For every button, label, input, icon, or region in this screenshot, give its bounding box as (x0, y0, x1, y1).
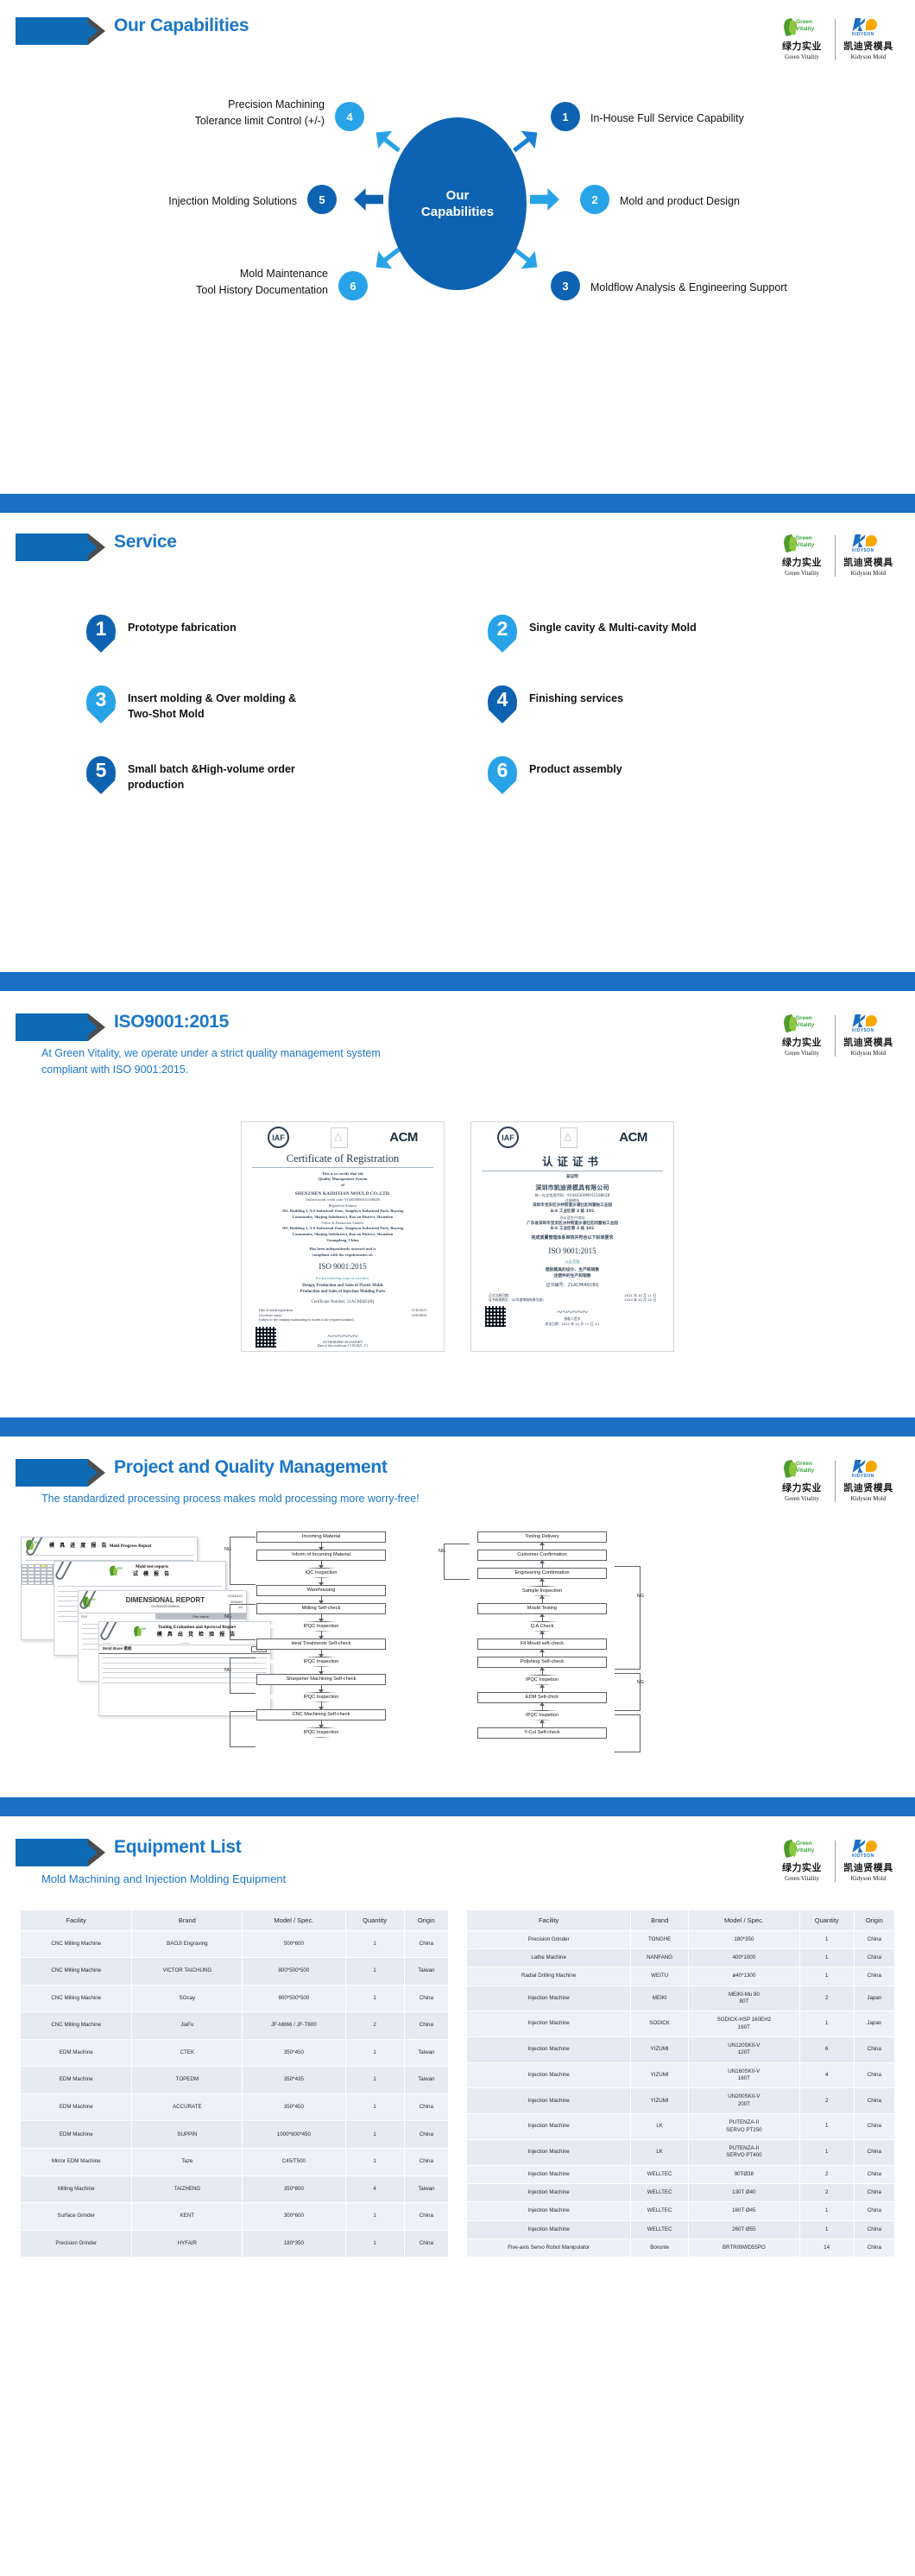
table-cell: EDM Machine (21, 2067, 132, 2094)
flow-connector (456, 1650, 628, 1657)
certificate-chinese[interactable]: IAF ACM 认证证书 兹证明 深圳市凯迪贤模具有限公司 统一社会信用代码：9… (470, 1121, 674, 1352)
badge-num-4: 4 (346, 110, 352, 123)
logo-divider (835, 19, 836, 60)
table-row: Five-axis Servo Robot ManipulatorBorunte… (467, 2239, 894, 2257)
table-cell: 1 (345, 2121, 404, 2149)
table-cell: 350*450 (243, 2039, 345, 2067)
company-logo: GreenVitality 绿力实业 Green Vitality KIDYSO… (774, 534, 896, 577)
capability-label-4: Precision Machining Tolerance limit Cont… (86, 97, 325, 130)
capability-label-6-line2: Tool History Documentation (60, 282, 328, 299)
flow-node: Inform of Incoming Material (256, 1550, 386, 1561)
flow-decision-label: IPQC Inspetion (526, 1677, 558, 1683)
table-cell: Mirror EDM Machine (21, 2149, 132, 2176)
kidyson-k-icon: KIDYSON (841, 1013, 896, 1032)
logo-green-en: Green Vitality (774, 1875, 830, 1882)
flow-decision-label: IPQC Inspection (304, 1730, 339, 1735)
column-header: Facility (467, 1910, 631, 1931)
table-cell: 260T Ø55 (688, 2220, 799, 2238)
table-cell: EDM Machine (21, 2093, 132, 2121)
table-cell: Five-axis Servo Robot Manipulator (467, 2239, 631, 2257)
logo-green-cn: 绿力实业 (774, 1481, 830, 1494)
logo-divider (835, 1015, 836, 1057)
table-cell: 350*450 (243, 2093, 345, 2121)
certificate-english[interactable]: IAF ACM Certificate of Registration This… (241, 1121, 445, 1352)
section-arrow-tab (16, 534, 88, 561)
logo-mark-line2: Vitality (796, 1022, 814, 1028)
logo-mark-line1: Green (796, 535, 812, 541)
capability-label-5: Injection Molding Solutions (52, 193, 297, 210)
green-leaf-icon: GreenVitality (774, 1459, 830, 1478)
table-cell: Radial Drilling Machine (467, 1967, 631, 1986)
cert-cn-off2: A-6 工业区第 3 栋 101 (476, 1227, 668, 1233)
table-cell: KENT (132, 2203, 243, 2231)
table-row: Injection MachineLKPUTENZA-IISERVO PT250… (467, 2114, 894, 2140)
acm-logo: ACM (619, 1130, 647, 1145)
service-num-1: 1 (86, 615, 116, 653)
service-item-6[interactable]: 6 Product assembly (488, 756, 863, 794)
green-leaf-icon: GreenVitality (774, 1839, 830, 1858)
cert-rule (252, 1167, 433, 1168)
ukas-icon (560, 1127, 577, 1148)
table-cell: 180*350 (243, 2230, 345, 2257)
flow-decision: IPQC Inspection (243, 1692, 399, 1702)
capability-label-6: Mold Maintenance Tool History Documentat… (60, 266, 328, 300)
table-cell: CNC Milling Machine (21, 1930, 132, 1958)
flow-connector (235, 1650, 407, 1657)
table-row: Precision GrinderTONGHE180*3501China (467, 1930, 894, 1948)
table-cell: LK (631, 2139, 689, 2165)
table-row: Injection MachineWELLTEC130T Ø402China (467, 2183, 894, 2201)
table-cell: 4 (799, 2062, 854, 2088)
kidyson-k-icon: KIDYSON (841, 1459, 896, 1478)
service-label-3: Insert molding & Over molding & Two-Shot… (128, 685, 313, 722)
badge-num-1: 1 (562, 110, 568, 123)
table-cell: UN160SKII-V160T (688, 2062, 799, 2088)
column-header: Model / Spec. (243, 1910, 345, 1931)
table-cell: 1 (799, 1967, 854, 1986)
table-cell: China (854, 2183, 894, 2201)
table-cell: 2 (345, 2012, 404, 2040)
service-label-6: Product assembly (529, 756, 622, 777)
cert-en-off1: 101, Building 3, A-6 Industrial Zone, To… (247, 1226, 439, 1232)
logo-kid-cn: 凯迪贤模具 (841, 1035, 896, 1049)
column-header: Model / Spec. (688, 1910, 799, 1931)
flow-node: Milliing Self-check (256, 1603, 386, 1614)
flow-decision-label: IQC Inspection (306, 1570, 338, 1575)
arrow-to-2 (530, 188, 559, 211)
table-cell: 1 (799, 2202, 854, 2220)
service-item-3[interactable]: 3 Insert molding & Over molding & Two-Sh… (86, 685, 462, 723)
cert-cn-standard: ISO 9001:2015 (476, 1246, 668, 1258)
table-cell: China (404, 2093, 448, 2121)
table-cell: UN120SKII-V120T (688, 2037, 799, 2063)
table-cell: 350*800 (243, 2175, 345, 2203)
table-cell: China (854, 2114, 894, 2140)
service-num-4: 4 (488, 685, 517, 723)
table-cell: Precision Grinder (467, 1930, 631, 1948)
table-cell: Taiwan (404, 2039, 448, 2067)
logo-kid-cn: 凯迪贤模具 (841, 555, 896, 569)
table-cell: CNC Milling Machine (21, 1985, 132, 2012)
cert-en-sig-label: AUTHORISED SIGNATORY (318, 1341, 368, 1344)
table-cell: Injection Machine (467, 2062, 631, 2088)
flow-connector (456, 1614, 628, 1621)
section-capabilities: Our Capabilities GreenVitality 绿力实业 Gree… (0, 0, 915, 535)
logo-kidyson-mark: KIDYSON (852, 1474, 874, 1479)
table-row: Injection MachineLKPUTENZA-IISERVO PT400… (467, 2139, 894, 2165)
center-line-2: Capabilities (421, 205, 494, 219)
table-row: EDM MachineSUPPIN1000*600*4501China (21, 2121, 448, 2149)
company-logo: GreenVitality 绿力实业 Green Vitality KIDYSO… (774, 1839, 896, 1882)
table-cell: 1 (799, 2139, 854, 2165)
column-header: Brand (132, 1910, 243, 1931)
cert-cn-scope2: 注塑件的生产和销售 (476, 1273, 668, 1279)
accreditation-marks: IAF ACM (476, 1127, 668, 1149)
flow-node: Warehousing (256, 1585, 386, 1596)
table-cell: LK (631, 2114, 689, 2140)
flow-node: CNC Machining Self-check (256, 1709, 386, 1720)
service-item-5[interactable]: 5 Small batch &High-volume order product… (86, 756, 462, 794)
table-row: EDM MachineCTEK350*4501Taiwan (21, 2039, 448, 2067)
certificates-row: IAF ACM Certificate of Registration This… (0, 1108, 915, 1352)
service-label-1: Prototype fabrication (128, 615, 237, 635)
cert-cn-signature: ~~~~~~ 授权人签字 发证日期：2021 年 10 月 11 日, V1 (545, 1309, 599, 1327)
table-cell: SUPPIN (132, 2121, 243, 2149)
service-label-4: Finishing services (529, 685, 623, 706)
section-arrow-tab (16, 1839, 88, 1866)
flow-connector (235, 1614, 407, 1621)
table-cell: Precision Grinder (21, 2230, 132, 2257)
doc-supplier-3: GVI (79, 1613, 155, 1619)
table-header-row: FacilityBrandModel / Spec.QuantityOrigin (21, 1910, 448, 1931)
capability-label-6-line1: Mold Maintenance (60, 266, 328, 282)
flow-decision-label: Sample Inspeciton (522, 1588, 562, 1594)
capabilities-center-node: Our Capabilities (388, 117, 527, 290)
logo-mark-line2: Vitality (796, 1468, 814, 1474)
iso-title: ISO9001:2015 (114, 1012, 229, 1032)
table-cell: NANFANG (631, 1948, 689, 1967)
table-cell: Injection Machine (467, 2114, 631, 2140)
table-row: Injection MachineMEIKIMEIKI-Mu 8080T2Jap… (467, 1986, 894, 2011)
table-cell: Taiwan (404, 1958, 448, 1986)
cert-en-signature: ~~~~~~ AUTHORISED SIGNATORY Date of this… (318, 1333, 368, 1348)
logo-mark-line1: Green (796, 1840, 812, 1847)
table-cell: Injection Machine (467, 2183, 631, 2201)
table-cell: 1 (799, 1930, 854, 1948)
flowchart-right: NG NG NG Tooling Delivery Customer Confi… (456, 1531, 628, 1739)
table-cell: MEIKI-Mu 8080T (688, 1986, 799, 2011)
logo-kidyson-mark: KIDYSON (852, 1028, 874, 1033)
table-cell: 2 (799, 1986, 854, 2011)
table-cell: 2 (799, 2165, 854, 2183)
flowchart-left: NG NG NG Incoming Material Inform of Inc… (235, 1531, 407, 1739)
table-cell: YIZUMI (631, 2088, 689, 2114)
table-cell: China (404, 2230, 448, 2257)
table-cell: Injection Machine (467, 2220, 631, 2238)
table-cell: China (854, 2088, 894, 2114)
table-cell: HYFAIR (132, 2230, 243, 2257)
service-item-2[interactable]: 2 Single cavity & Multi-cavity Mold (488, 615, 863, 653)
logo-green-en: Green Vitality (774, 1495, 830, 1502)
flow-decision-label: IPQC Inspetion (526, 1713, 558, 1718)
logo-kid-cn: 凯迪贤模具 (841, 1860, 896, 1874)
flow-connector (235, 1667, 407, 1674)
table-cell: CTEK (132, 2039, 243, 2067)
column-header: Origin (854, 1910, 894, 1931)
table-cell: 800*500*500 (243, 1985, 345, 2012)
table-cell: 1000*600*450 (243, 2121, 345, 2149)
table-cell: Taiwan (404, 2067, 448, 2094)
logo-mark-line1: Green (796, 19, 812, 25)
table-cell: 180*350 (688, 1930, 799, 1948)
logo-kidyson-mark: KIDYSON (852, 32, 874, 37)
flow-node: Y-Cut Self-check (477, 1727, 607, 1739)
table-cell: Lathe Machine (467, 1948, 631, 1967)
capability-badge-5[interactable]: 5 (307, 185, 337, 214)
table-cell: 800*500*500 (243, 1958, 345, 1986)
table-cell: TONGHE (631, 1930, 689, 1948)
flow-decision: IQC Inspection (243, 1568, 399, 1578)
section-arrow-tab (16, 1459, 88, 1487)
flow-loop-ng (615, 1566, 640, 1670)
service-items-grid: 1 Prototype fabrication 2 Single cavity … (0, 561, 915, 794)
logo-green-en: Green Vitality (774, 1050, 830, 1057)
flow-connector (235, 1543, 407, 1550)
equipment-table-left: FacilityBrandModel / Spec.QuantityOrigin… (21, 1910, 448, 2258)
logo-mark-line2: Vitality (796, 26, 814, 32)
table-cell: JiaFu (132, 2012, 243, 2040)
table-cell: 1 (799, 2220, 854, 2238)
signature-scribble-icon: ~~~~~~ (545, 1309, 599, 1316)
table-row: Mirror EDM MachineTazeC45/T5001China (21, 2149, 448, 2176)
table-cell: 1 (799, 1948, 854, 1967)
green-leaf-icon: GreenVitality (774, 17, 830, 36)
capabilities-diagram: Our Capabilities 1 2 3 4 5 (0, 83, 915, 342)
flow-loop-ng (615, 1714, 640, 1752)
flow-loop-ng (615, 1673, 640, 1711)
flow-connector (235, 1632, 407, 1638)
iso-subtitle-line2: compliant with ISO 9001:2015. (41, 1062, 915, 1078)
table-cell: 1 (345, 1930, 404, 1958)
table-row: CNC Milling MachineVICTOR TAICHUNG800*50… (21, 1958, 448, 1986)
cert-cn-scope1: 塑胶模具的设计、生产和销售 (476, 1267, 668, 1273)
flow-loop-ng (444, 1544, 470, 1580)
doc-title-cn-4: 模 具 出 货 检 验 报 告 (157, 1630, 237, 1638)
table-cell: China (404, 2121, 448, 2149)
flow-connector (456, 1703, 628, 1710)
badge-num-3: 3 (562, 280, 568, 293)
cert-en-scope2: Production and Sales of Injection Moldin… (247, 1289, 439, 1295)
table-cell: 1 (345, 1985, 404, 2012)
flow-decision-label: IPQC Inspection (304, 1659, 339, 1664)
logo-kidyson-mark: KIDYSON (852, 1853, 874, 1859)
table-cell: TOPEDM (132, 2067, 243, 2094)
table-cell: 4 (345, 2175, 404, 2203)
logo-kid-en: Kidyson Mold (841, 1875, 896, 1882)
section-arrow-tab (16, 17, 88, 45)
table-cell: 400*1000 (688, 1948, 799, 1967)
table-cell: 2 (799, 2183, 854, 2201)
table-cell: 500*600 (243, 1930, 345, 1958)
service-num-3: 3 (86, 685, 116, 723)
table-cell: WELLTEC (631, 2165, 689, 2183)
logo-green-vitality: GreenVitality 绿力实业 Green Vitality (774, 1013, 830, 1057)
table-cell: 1 (345, 2230, 404, 2257)
logo-kid-en: Kidyson Mold (841, 1495, 896, 1502)
table-cell: ø40*1300 (688, 1967, 799, 1986)
cert-en-reg2: Community, Shajing Subdistrict, Bao'an D… (247, 1215, 439, 1221)
pqm-title: Project and Quality Management (114, 1457, 388, 1478)
table-cell: China (854, 2202, 894, 2220)
capability-label-4-line1: Precision Machining (86, 97, 325, 113)
logo-green-en: Green Vitality (774, 570, 830, 577)
flow-decision-label: IPQC Inspection (304, 1624, 339, 1629)
table-cell: 90TØ38 (688, 2165, 799, 2183)
capability-badge-6[interactable]: 6 (338, 271, 368, 300)
table-cell: Injection Machine (467, 2037, 631, 2063)
logo-green-vitality: GreenVitality 绿力实业 Green Vitality (774, 1839, 830, 1882)
flow-connector (456, 1668, 628, 1675)
table-cell: VICTOR TAICHUNG (132, 1958, 243, 1986)
capability-badge-4[interactable]: 4 (335, 102, 364, 131)
table-cell: 1 (345, 1958, 404, 1986)
cert-cn-title: 认证证书 (476, 1152, 668, 1169)
logo-mark-line2: Vitality (796, 542, 814, 548)
table-cell: China (404, 2149, 448, 2176)
table-cell: MEIKI (631, 1986, 689, 2011)
cert-en-footer: ~~~~~~ AUTHORISED SIGNATORY Date of this… (247, 1323, 439, 1348)
qr-code-icon (485, 1306, 506, 1327)
table-cell: Injection Machine (467, 1986, 631, 2011)
flow-connector (456, 1579, 628, 1586)
table-cell: China (404, 1930, 448, 1958)
flow-loop-ng (230, 1604, 256, 1640)
equipment-title: Equipment List (114, 1837, 241, 1858)
iaf-icon: IAF (268, 1127, 289, 1148)
table-row: CNC Milling MachineBAOJI Engraving500*60… (21, 1930, 448, 1958)
flow-connector (235, 1561, 407, 1568)
table-cell: SODICK-HSP 160EH2160T (688, 2011, 799, 2037)
flow-connector (235, 1578, 407, 1585)
table-row: Injection MachineYIZUMIUN200SKII-V200T2C… (467, 2088, 894, 2114)
cert-en-intro3: of (247, 1183, 439, 1189)
capability-label-3: Moldflow Analysis & Engineering Support (590, 280, 787, 296)
cert-en-body: This is to certify that the Quality Mana… (247, 1171, 439, 1306)
flow-decision: IPQC Inspection (243, 1727, 399, 1738)
table-cell: China (854, 2220, 894, 2238)
cert-cn-dates: 正式注册日期： 证书有效期至：(以年度审核结果为准) 2021 年 10 月 1… (476, 1290, 668, 1303)
logo-mark-line1: Green (796, 1015, 812, 1021)
green-leaf-icon: GV (133, 1626, 154, 1636)
service-item-4[interactable]: 4 Finishing services (488, 685, 863, 723)
logo-green-vitality: GreenVitality 绿力实业 Green Vitality (774, 17, 830, 60)
table-cell: Milling Machine (21, 2175, 132, 2203)
table-cell: 1 (345, 2093, 404, 2121)
section-service: Service GreenVitality 绿力实业 Green Vitalit… (0, 513, 915, 996)
page-title: Our Capabilities (114, 16, 249, 36)
logo-kidyson: KIDYSON 凯迪贤模具 Kidyson Mold (841, 1459, 896, 1502)
flow-decision: IPQC Inspection (243, 1657, 399, 1667)
table-cell: Taze (132, 2149, 243, 2176)
green-leaf-icon: GV (109, 1566, 129, 1575)
capability-badge-1[interactable]: 1 (551, 102, 580, 131)
table-cell: 130T Ø40 (688, 2183, 799, 2201)
cert-en-off3: Guangdong, China (247, 1238, 439, 1244)
doc-title-en-4: Tooling Evaluation and Aprroval Report (157, 1625, 237, 1630)
table-cell: China (404, 1985, 448, 2012)
doc-header: GV Mold test reports 试 模 报 告 (54, 1562, 225, 1579)
flow-connector (456, 1561, 628, 1568)
table-cell: China (854, 1948, 894, 1967)
doc-title-cn-1: 模 具 进 度 报 告 (49, 1543, 108, 1549)
iaf-icon: IAF (497, 1127, 519, 1148)
section-equipment: Equipment List Mold Machining and Inject… (0, 1816, 915, 2283)
table-row: EDM MachineTOPEDM350*4351Taiwan (21, 2067, 448, 2094)
capability-label-1: In-House Full Service Capability (590, 110, 744, 127)
doc-header: GV DIMENSIONAL REPORT GV002020160003 110… (79, 1591, 246, 1613)
column-header: Origin (404, 1910, 448, 1931)
cert-en-dates: Date of initial registration Certificate… (247, 1305, 439, 1323)
doc-title-en-3: DIMENSIONAL REPORT (106, 1596, 224, 1604)
capability-label-2: Mold and product Design (620, 193, 740, 210)
table-cell: China (854, 2062, 894, 2088)
company-logo: GreenVitality 绿力实业 Green Vitality KIDYSO… (774, 17, 896, 60)
doc-section-4: Mold Base 模框 (103, 1646, 251, 1652)
flow-connector (456, 1596, 628, 1603)
cert-en-date1: 11/10/2021 (412, 1309, 426, 1314)
table-cell: PUTENZA-IISERVO PT250 (688, 2114, 799, 2140)
cert-en-number: Certificate Number: 21ACMI4618Q (247, 1299, 439, 1306)
acm-logo: ACM (389, 1130, 418, 1145)
table-cell: China (854, 2139, 894, 2165)
table-cell: 1 (799, 2011, 854, 2037)
capability-badge-2[interactable]: 2 (580, 185, 609, 214)
service-title: Service (114, 532, 177, 552)
table-cell: Injection Machine (467, 2011, 631, 2037)
service-item-1[interactable]: 1 Prototype fabrication (86, 615, 462, 653)
table-cell: China (854, 2165, 894, 2183)
table-cell: WELLTEC (631, 2202, 689, 2220)
cert-en-company: SHENZHEN KAIDIXIAN MOULD CO.,LTD. (247, 1190, 439, 1197)
cert-cn-company: 深圳市凯迪贤模具有限公司 (476, 1184, 668, 1193)
flow-decision: IPQC Inspection (243, 1621, 399, 1632)
cert-en-reg1: 101, Building 3, A-6 Industrial Zone, To… (247, 1209, 439, 1215)
table-row: CNC Milling MachineSOcay800*500*5001Chin… (21, 1985, 448, 2012)
table-cell: 1 (345, 2067, 404, 2094)
badge-num-2: 2 (591, 193, 597, 206)
flow-loop-ng (230, 1711, 256, 1747)
cert-en-intro2: Quality Management System (247, 1177, 439, 1183)
table-cell: Surface Grinder (21, 2203, 132, 2231)
logo-kid-en: Kidyson Mold (841, 54, 896, 60)
column-header: Quantity (799, 1910, 854, 1931)
table-cell: China (854, 2239, 894, 2257)
table-cell: China (854, 2037, 894, 2063)
table-row: Injection MachineWELLTEC90TØ382China (467, 2165, 894, 2183)
signature-scribble-icon: ~~~~~~ (318, 1333, 368, 1341)
logo-mark-line1: Green (796, 1461, 812, 1467)
flow-loop-ng (230, 1537, 256, 1585)
cert-cn-assess: 完成质量管理体系审核并符合以下标准要求 (476, 1235, 668, 1242)
capability-badge-3[interactable]: 3 (551, 271, 580, 300)
table-cell: 160T Ø45 (688, 2202, 799, 2220)
logo-green-vitality: GreenVitality 绿力实业 Green Vitality (774, 534, 830, 577)
table-cell: CNC Milling Machine (21, 1958, 132, 1986)
table-cell: Japan (854, 1986, 894, 2011)
logo-green-cn: 绿力实业 (774, 555, 830, 569)
company-logo: GreenVitality 绿力实业 Green Vitality KIDYSO… (774, 1013, 896, 1057)
column-header: Brand (631, 1910, 689, 1931)
